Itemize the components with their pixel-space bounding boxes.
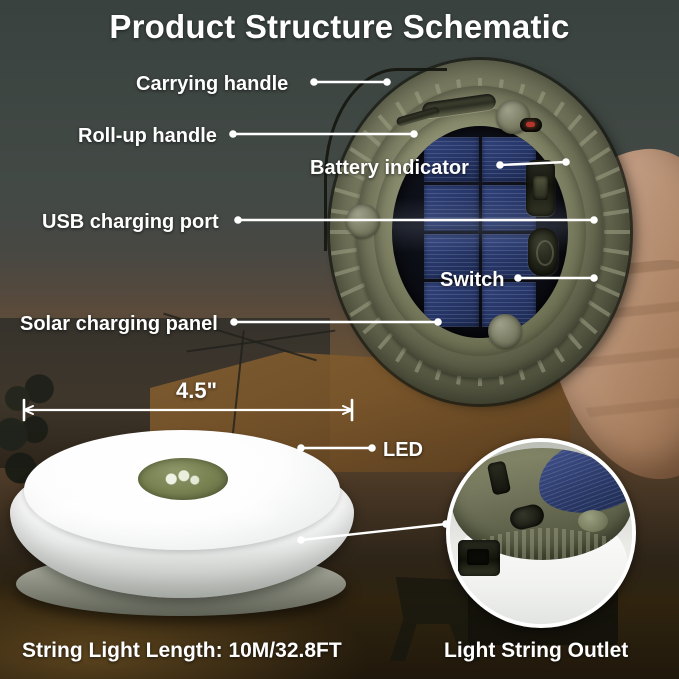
lantern-diffuser-product-photo [6, 424, 358, 620]
inset-solar-panel [534, 448, 632, 519]
string-light-length-label: String Light Length: 10M/32.8FT [22, 640, 342, 661]
inset-grip-rib [546, 528, 550, 560]
schematic-canvas: Product Structure Schematic Carrying han… [0, 0, 679, 679]
inset-grip-rib [626, 543, 630, 560]
inset-grip-rib [586, 532, 590, 560]
callout-label-led: LED [383, 440, 423, 460]
inset-grip-rib [554, 528, 558, 560]
brand-logo-disc [138, 458, 228, 500]
inset-grip-rib [618, 541, 622, 560]
inset-grip-rib [562, 529, 566, 560]
housing-bump [488, 314, 522, 348]
light-string-outlet-inset [446, 438, 636, 628]
inset-grip-rib [570, 530, 574, 560]
inset-grip-rib [514, 531, 518, 560]
light-string-outlet-port [458, 540, 500, 576]
lantern-top-view [330, 52, 646, 418]
solar-cell [424, 185, 479, 230]
dimension-label-diameter: 4.5" [176, 378, 217, 404]
inset-grip-rib [594, 534, 598, 560]
callout-label-roll-up-handle: Roll-up handle [78, 126, 217, 146]
inset-grip-rib [610, 539, 614, 560]
callout-label-battery-indicator: Battery indicator [310, 158, 469, 178]
inset-grip-rib [522, 530, 526, 560]
power-switch-button[interactable] [528, 228, 558, 276]
callout-label-switch: Switch [440, 270, 504, 290]
inset-grip-rib [602, 536, 606, 560]
inset-usb-port [487, 460, 511, 495]
usb-charging-port[interactable] [526, 160, 555, 216]
inset-grip-rib [538, 528, 542, 560]
battery-indicator-led [520, 118, 542, 132]
page-title: Product Structure Schematic [0, 8, 679, 46]
housing-bump [346, 204, 380, 238]
callout-label-usb-charging-port: USB charging port [42, 212, 219, 232]
inset-grip-rib [578, 531, 582, 560]
light-string-outlet-label: Light String Outlet [444, 640, 628, 661]
inset-grip-rib [506, 532, 510, 560]
inset-housing-bump [578, 510, 608, 532]
inset-grip-rib [530, 529, 534, 560]
callout-label-solar-panel: Solar charging panel [20, 314, 218, 334]
lantern-highlight [36, 494, 276, 536]
callout-label-carrying-handle: Carrying handle [136, 74, 288, 94]
